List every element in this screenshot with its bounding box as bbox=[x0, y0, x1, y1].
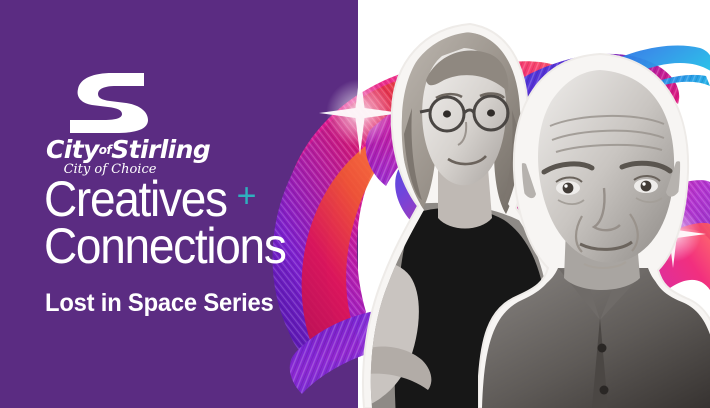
headline-row-1: Creatives+ bbox=[44, 176, 307, 223]
subtitle-lost-in-space-series: Lost in Space Series bbox=[45, 289, 274, 318]
city-of-stirling-logo: CityofStirling City of Choice bbox=[46, 72, 276, 177]
headline-line-1: Creatives bbox=[44, 176, 227, 223]
headline: Creatives+ Connections bbox=[44, 176, 307, 269]
headline-row-2: Connections bbox=[44, 223, 307, 270]
logo-wordmark: CityofStirling bbox=[46, 137, 276, 162]
logo-word-stirling: Stirling bbox=[111, 135, 210, 164]
headline-plus-symbol: + bbox=[237, 181, 257, 213]
logo-word-of: of bbox=[99, 143, 111, 157]
portrait-man bbox=[478, 52, 710, 408]
creatives-connections-banner: CityofStirling City of Choice Creatives+… bbox=[0, 0, 710, 408]
headline-line-2: Connections bbox=[44, 223, 286, 270]
stirling-s-mark-icon bbox=[64, 72, 150, 134]
logo-word-city: City bbox=[46, 135, 99, 164]
